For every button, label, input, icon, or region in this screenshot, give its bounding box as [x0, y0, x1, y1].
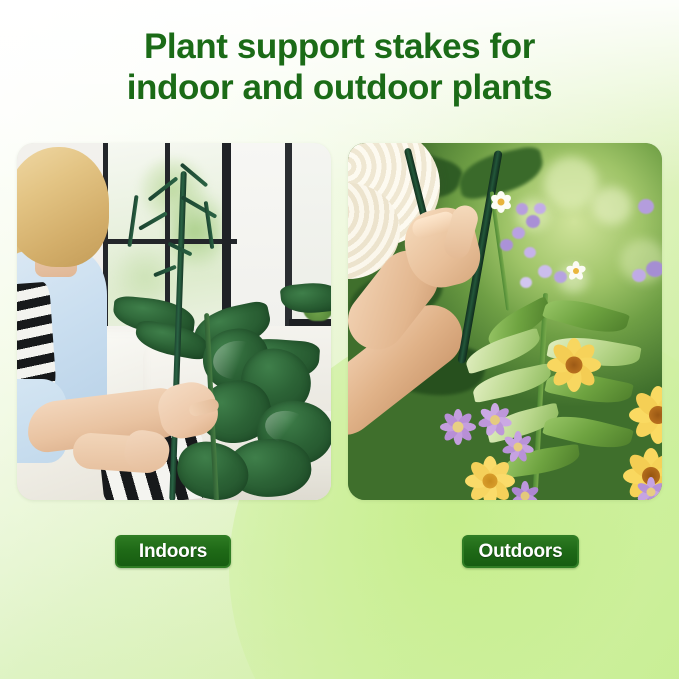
- yellow-daisy-2: [626, 383, 662, 447]
- yellow-daisy-1: [544, 335, 604, 395]
- outdoor-scene-illustration: [348, 143, 662, 500]
- page-title-line-2: indoor and outdoor plants: [0, 67, 679, 108]
- window-foliage-bokeh-2: [167, 185, 223, 277]
- purple-aster-5: [634, 475, 662, 500]
- lilac-floret-3: [512, 227, 525, 239]
- lilac-floret-2: [526, 215, 540, 228]
- lilac-floret-10: [638, 199, 654, 214]
- garden-bokeh-1: [544, 157, 598, 209]
- lilac-floret-9: [520, 277, 532, 288]
- lilac-floret-4: [534, 203, 546, 214]
- white-daisy-2: [566, 261, 586, 281]
- badge-indoors-label: Indoors: [139, 542, 207, 561]
- purple-aster-4: [508, 479, 542, 500]
- garden-bokeh-2: [592, 187, 632, 225]
- purple-aster-1: [438, 407, 478, 447]
- lilac-floret-11: [646, 261, 662, 277]
- woman-hair: [17, 147, 109, 267]
- badge-outdoors-label: Outdoors: [479, 542, 563, 561]
- lilac-floret-7: [538, 265, 552, 278]
- photo-panel-outdoor: [348, 143, 662, 500]
- indoor-scene-illustration: [17, 143, 331, 500]
- lilac-floret-1: [516, 203, 528, 215]
- lilac-floret-6: [524, 247, 536, 258]
- photo-panel-indoor: [17, 143, 331, 500]
- badge-outdoors: Outdoors: [462, 535, 579, 568]
- page-title-line-1: Plant support stakes for: [0, 26, 679, 67]
- purple-aster-3: [500, 429, 536, 465]
- product-feature-poster: Plant support stakes for indoor and outd…: [0, 0, 679, 679]
- page-title: Plant support stakes for indoor and outd…: [0, 26, 679, 108]
- badge-indoors: Indoors: [115, 535, 231, 568]
- lilac-floret-5: [500, 239, 513, 251]
- lilac-floret-12: [632, 269, 646, 282]
- white-daisy-1: [490, 191, 512, 213]
